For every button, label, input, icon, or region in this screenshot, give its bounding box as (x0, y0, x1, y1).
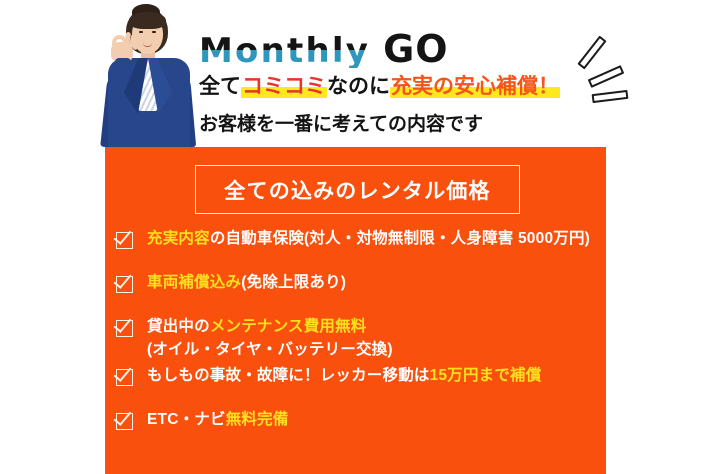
presenter-illustration (88, 2, 206, 147)
tagline-highlight-hosho: 充実の安心補償！ (390, 75, 560, 98)
feature-text: 貸出中のメンテナンス費用無料(オイル・タイヤ・バッテリー交換) (147, 315, 393, 361)
monthly-go-promo-banner: Monthly GO 全てコミコミなのに充実の安心補償！ お客様を一番に考えての… (0, 0, 710, 474)
hero-subtitle: お客様を一番に考えての内容です (199, 112, 483, 138)
checkbox-checked-icon (116, 367, 136, 387)
panel-title: 全ての込みのレンタル価格 (196, 166, 519, 213)
tagline-highlight-komikomi: コミコミ (241, 75, 327, 98)
feature-text-segment: 充実内容 (147, 230, 210, 247)
feature-text-segment: 車両補償込み (147, 274, 241, 291)
checkbox-checked-icon (116, 274, 136, 294)
feature-text: もしもの事故・故障に！レッカー移動は15万円まで補償 (147, 364, 541, 387)
hero-tagline: 全てコミコミなのに充実の安心補償！ (199, 73, 560, 101)
ok-ring (112, 35, 127, 51)
dash-mark-icon (592, 90, 629, 103)
hero-section: Monthly GO 全てコミコミなのに充実の安心補償！ お客様を一番に考えての… (0, 0, 710, 147)
checkbox-checked-icon (116, 230, 136, 250)
presenter-fringe (129, 12, 166, 29)
feature-text: 車両補償込み(免除上限あり) (147, 271, 346, 294)
feature-text-segment: 15万円まで補償 (430, 367, 542, 384)
feature-item: ETC・ナビ無料完備 (116, 405, 602, 449)
feature-text-segment: (オイル・タイヤ・バッテリー交換) (147, 341, 393, 358)
feature-text-line: 充実内容の自動車保険(対人・対物無制限・人身障害 5000万円) (147, 230, 590, 247)
ok-gesture-hand-icon (109, 32, 135, 62)
panel-title-box: 全ての込みのレンタル価格 (195, 165, 520, 214)
feature-item: もしもの事故・故障に！レッカー移動は15万円まで補償 (116, 361, 602, 405)
dash-mark-icon (577, 36, 606, 70)
tagline-part-1: 全て (199, 75, 241, 98)
feature-text-segment: の自動車保険(対人・対物無制限・人身障害 5000万円) (210, 230, 590, 247)
feature-text-segment: 貸出中の (147, 318, 210, 335)
feature-text-line: もしもの事故・故障に！レッカー移動は15万円まで補償 (147, 367, 541, 384)
feature-item: 車両補償込み(免除上限あり) (116, 268, 602, 312)
presenter-eye-right (152, 31, 156, 33)
feature-item: 充実内容の自動車保険(対人・対物無制限・人身障害 5000万円) (116, 224, 602, 268)
feature-text-segment: (免除上限あり) (241, 274, 346, 291)
feature-text-segment: もしもの事故・故障に！レッカー移動は (147, 367, 430, 384)
logo-text-go: GO (383, 30, 449, 68)
checkbox-checked-icon (116, 411, 136, 431)
presenter-eye-left (139, 31, 143, 33)
feature-text: 充実内容の自動車保険(対人・対物無制限・人身障害 5000万円) (147, 227, 590, 250)
logo-text-monthly: Monthly (199, 34, 370, 68)
feature-text-segment: メンテナンス費用無料 (210, 318, 367, 335)
emphasis-dashes-decoration (566, 46, 656, 116)
feature-list: 充実内容の自動車保険(対人・対物無制限・人身障害 5000万円)車両補償込み(免… (116, 224, 602, 449)
feature-text-line: ETC・ナビ無料完備 (147, 411, 289, 428)
brand-logo: Monthly GO (199, 22, 449, 68)
feature-text-segment: 無料完備 (226, 411, 289, 428)
feature-text-line: (オイル・タイヤ・バッテリー交換) (147, 338, 393, 361)
feature-text-line: 車両補償込み(免除上限あり) (147, 274, 346, 291)
checkbox-checked-icon (116, 318, 136, 338)
tagline-part-3: なのに (327, 75, 390, 98)
feature-item: 貸出中のメンテナンス費用無料(オイル・タイヤ・バッテリー交換) (116, 312, 602, 361)
feature-text: ETC・ナビ無料完備 (147, 408, 289, 431)
feature-text-segment: ETC・ナビ (147, 411, 226, 428)
feature-text-line: 貸出中のメンテナンス費用無料 (147, 318, 367, 335)
hand-cuff (115, 58, 131, 70)
pricing-features-panel: 全ての込みのレンタル価格 充実内容の自動車保険(対人・対物無制限・人身障害 50… (105, 147, 606, 474)
dash-mark-icon (588, 65, 625, 88)
